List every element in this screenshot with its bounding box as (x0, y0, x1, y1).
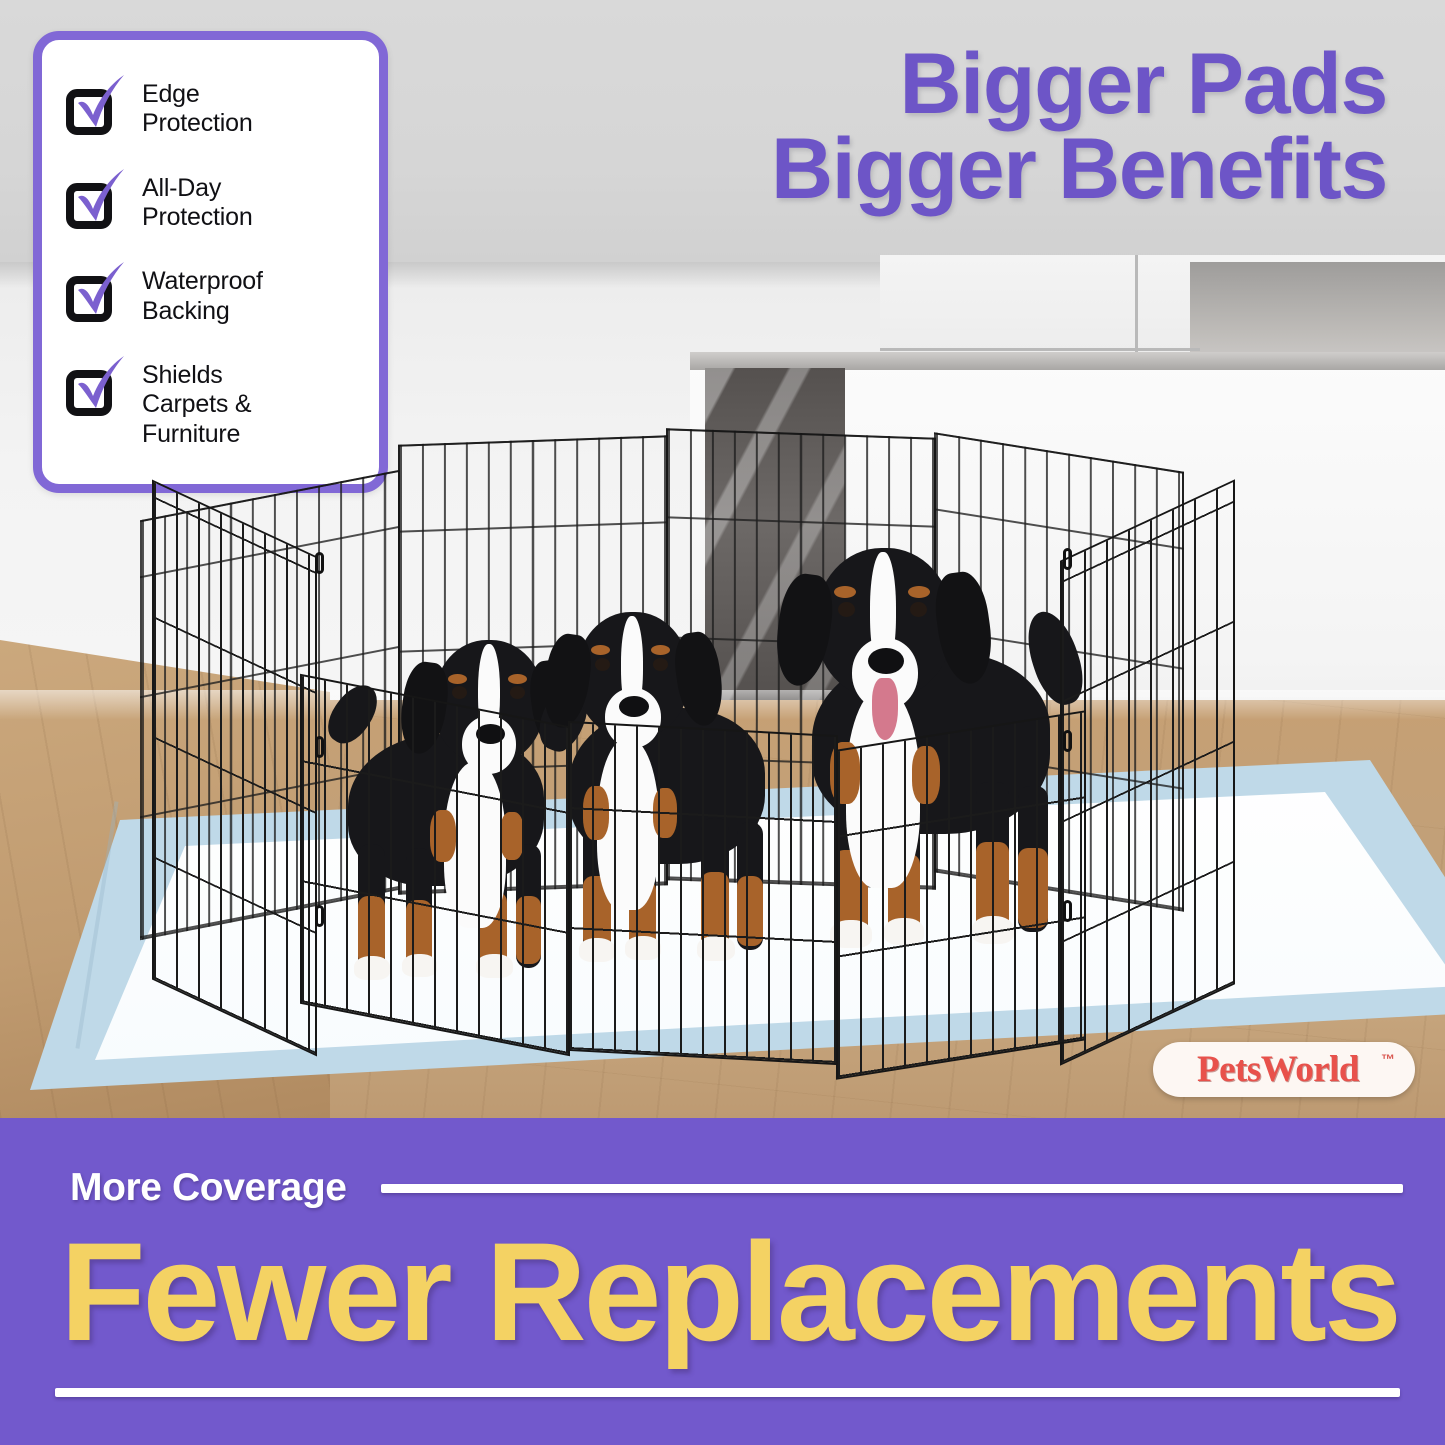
feature-item-waterproof-backing: WaterproofBacking (64, 266, 361, 326)
pen-panel-front-center (568, 721, 838, 1065)
checkbox-check-icon (64, 175, 124, 231)
checkbox-check-icon (64, 362, 124, 418)
cabinet-shelf-line (880, 348, 1200, 351)
feature-label: EdgeProtection (142, 79, 253, 139)
pen-hinge-ring (1063, 548, 1072, 570)
feature-item-shields-carpets-furniture: ShieldsCarpets &Furniture (64, 360, 361, 449)
trademark-icon: ™ (1381, 1051, 1395, 1067)
banner-divider-top (381, 1184, 1403, 1193)
pen-panel-front-right (836, 710, 1086, 1080)
checkbox-check-icon (64, 81, 124, 137)
product-banner-canvas: PetsWorld ™ Bigger Pads Bigger Benefits … (0, 0, 1445, 1445)
petsworld-logo-text: PetsWorld (1197, 1048, 1359, 1091)
headline-line-1: Bigger Pads (899, 36, 1387, 132)
pen-panel-side-right (1060, 479, 1235, 1066)
petsworld-logo-badge: PetsWorld ™ (1153, 1042, 1415, 1097)
checkbox-check-icon (64, 268, 124, 324)
banner-headline: Fewer Replacements (60, 1222, 1400, 1362)
pen-panel-front-left (300, 674, 570, 1056)
feature-item-all-day-protection: All-DayProtection (64, 173, 361, 233)
banner-divider-bottom (55, 1388, 1400, 1397)
banner-kicker-row: More Coverage (0, 1166, 1445, 1210)
feature-item-edge-protection: EdgeProtection (64, 79, 361, 139)
banner-kicker: More Coverage (70, 1166, 347, 1210)
exercise-playpen (0, 400, 1445, 1100)
pen-hinge-ring (1063, 900, 1072, 922)
pen-hinge-ring (1063, 730, 1072, 752)
pen-hinge-ring (315, 736, 324, 758)
feature-label: ShieldsCarpets &Furniture (142, 360, 251, 449)
pen-hinge-ring (315, 552, 324, 574)
feature-label: All-DayProtection (142, 173, 253, 233)
feature-list-card: EdgeProtection All-DayProtection Waterpr… (33, 31, 388, 493)
headline-line-2: Bigger Benefits (771, 127, 1387, 212)
pen-panel-side-left (152, 480, 317, 1057)
feature-label: WaterproofBacking (142, 266, 263, 326)
headline: Bigger Pads Bigger Benefits (771, 42, 1387, 212)
pen-hinge-ring (315, 905, 324, 927)
bottom-banner: More Coverage Fewer Replacements (0, 1118, 1445, 1445)
